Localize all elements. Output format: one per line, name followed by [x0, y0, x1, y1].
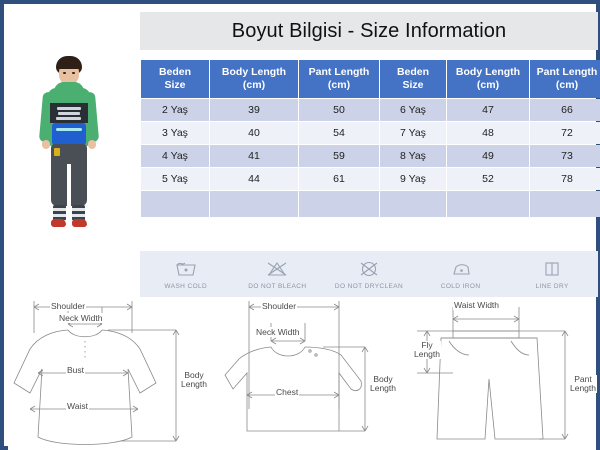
size-chart-root: Boyut Bilgisi - Size Information Beden S… — [0, 0, 600, 450]
product-photo — [4, 4, 134, 240]
header-line-2: Size — [143, 79, 207, 92]
label-line-2: Length — [370, 384, 396, 393]
column-header-body-length-2: Body Length (cm) — [447, 60, 529, 98]
care-item-do-not-dryclean: DO NOT DRYCLEAN — [325, 258, 413, 290]
care-label: DO NOT DRYCLEAN — [335, 283, 403, 290]
column-header-body-length-1: Body Length (cm) — [210, 60, 298, 98]
label-bust: Bust — [66, 365, 85, 375]
cell-pant-length-2: 66 — [530, 99, 600, 121]
dress-measurement-diagram: Shoulder Neck Width Bust Waist Body Leng… — [8, 297, 223, 450]
cell-empty — [299, 191, 379, 217]
label-body-length: Body Length — [180, 371, 208, 389]
cell-pant-length: 61 — [299, 168, 379, 190]
line-dry-square-icon — [540, 258, 564, 280]
cell-pant-length-2: 73 — [530, 145, 600, 167]
cell-size-2: 6 Yaş — [380, 99, 446, 121]
table-row: 3 Yaş 40 54 7 Yaş 48 72 — [141, 122, 600, 144]
cell-empty — [141, 191, 209, 217]
column-header-beden-size-1: Beden Size — [141, 60, 209, 98]
page-title: Boyut Bilgisi - Size Information — [140, 12, 598, 50]
label-neck-width: Neck Width — [255, 327, 300, 337]
cell-size: 2 Yaş — [141, 99, 209, 121]
cell-empty — [530, 191, 600, 217]
cell-pant-length-2: 78 — [530, 168, 600, 190]
header-line-1: Beden — [143, 66, 207, 79]
cell-pant-length: 50 — [299, 99, 379, 121]
care-label: COLD IRON — [441, 283, 481, 290]
wash-tub-cold-icon — [174, 258, 198, 280]
label-line-2: Length — [181, 380, 207, 389]
label-waist-width: Waist Width — [453, 300, 500, 310]
label-line-2: Length — [414, 350, 440, 359]
cell-body-length-2: 48 — [447, 122, 529, 144]
header-line-2: (cm) — [532, 79, 600, 92]
care-item-cold-iron: COLD IRON — [417, 258, 505, 290]
table-row: 5 Yaş 44 61 9 Yaş 52 78 — [141, 168, 600, 190]
page-title-text: Boyut Bilgisi - Size Information — [232, 20, 506, 43]
cell-body-length-2: 47 — [447, 99, 529, 121]
do-not-bleach-triangle-icon — [265, 258, 289, 280]
column-header-beden-size-2: Beden Size — [380, 60, 446, 98]
cell-size: 3 Yaş — [141, 122, 209, 144]
header-line-2: (cm) — [212, 79, 296, 92]
cell-body-length-2: 52 — [447, 168, 529, 190]
measurement-diagrams: Shoulder Neck Width Bust Waist Body Leng… — [8, 297, 596, 450]
label-body-length: Body Length — [369, 375, 397, 393]
table-header-row: Beden Size Body Length (cm) Pant Length … — [141, 60, 600, 98]
header-line-1: Beden — [382, 66, 444, 79]
iron-one-dot-icon — [449, 258, 473, 280]
shirt-measurement-diagram: Shoulder Neck Width Chest Body Length — [223, 297, 413, 450]
header-line-1: Pant Length — [301, 66, 377, 79]
cell-pant-length-2: 72 — [530, 122, 600, 144]
child-model-illustration — [34, 56, 104, 232]
label-line-2: Length — [570, 384, 596, 393]
cell-size: 5 Yaş — [141, 168, 209, 190]
label-neck-width: Neck Width — [58, 313, 103, 323]
care-label: LINE DRY — [536, 283, 569, 290]
column-header-pant-length-1: Pant Length (cm) — [299, 60, 379, 98]
cell-body-length-2: 49 — [447, 145, 529, 167]
table-row-empty — [141, 191, 600, 217]
cell-size: 4 Yaş — [141, 145, 209, 167]
label-waist: Waist — [66, 401, 89, 411]
label-shoulder: Shoulder — [50, 301, 86, 311]
pants-measurement-diagram: Waist Width Fly Length Pant Length — [413, 297, 596, 450]
cell-size-2: 9 Yaş — [380, 168, 446, 190]
label-shoulder: Shoulder — [261, 301, 297, 311]
cell-size-2: 7 Yaş — [380, 122, 446, 144]
table-row: 4 Yaş 41 59 8 Yaş 49 73 — [141, 145, 600, 167]
care-label: DO NOT BLEACH — [248, 283, 306, 290]
cell-body-length: 39 — [210, 99, 298, 121]
care-item-wash-cold: WASH COLD — [142, 258, 230, 290]
header-line-2: (cm) — [449, 79, 527, 92]
cell-pant-length: 54 — [299, 122, 379, 144]
cell-size-2: 8 Yaş — [380, 145, 446, 167]
size-table: Beden Size Body Length (cm) Pant Length … — [140, 59, 600, 218]
column-header-pant-length-2: Pant Length (cm) — [530, 60, 600, 98]
header-line-2: (cm) — [301, 79, 377, 92]
header-line-2: Size — [382, 79, 444, 92]
label-pant-length: Pant Length — [569, 375, 597, 393]
care-item-do-not-bleach: DO NOT BLEACH — [233, 258, 321, 290]
cell-body-length: 41 — [210, 145, 298, 167]
care-item-line-dry: LINE DRY — [508, 258, 596, 290]
care-symbols-strip: WASH COLD DO NOT BLEACH DO NOT DRYCL — [140, 251, 598, 297]
table-row: 2 Yaş 39 50 6 Yaş 47 66 — [141, 99, 600, 121]
label-chest: Chest — [275, 387, 299, 397]
do-not-dryclean-circle-icon — [357, 258, 381, 280]
header-line-1: Body Length — [212, 66, 296, 79]
header-line-1: Body Length — [449, 66, 527, 79]
care-label: WASH COLD — [164, 283, 207, 290]
cell-empty — [210, 191, 298, 217]
cell-pant-length: 59 — [299, 145, 379, 167]
cell-empty — [380, 191, 446, 217]
cell-body-length: 40 — [210, 122, 298, 144]
label-fly-length: Fly Length — [413, 341, 441, 359]
cell-body-length: 44 — [210, 168, 298, 190]
header-line-1: Pant Length — [532, 66, 600, 79]
cell-empty — [447, 191, 529, 217]
